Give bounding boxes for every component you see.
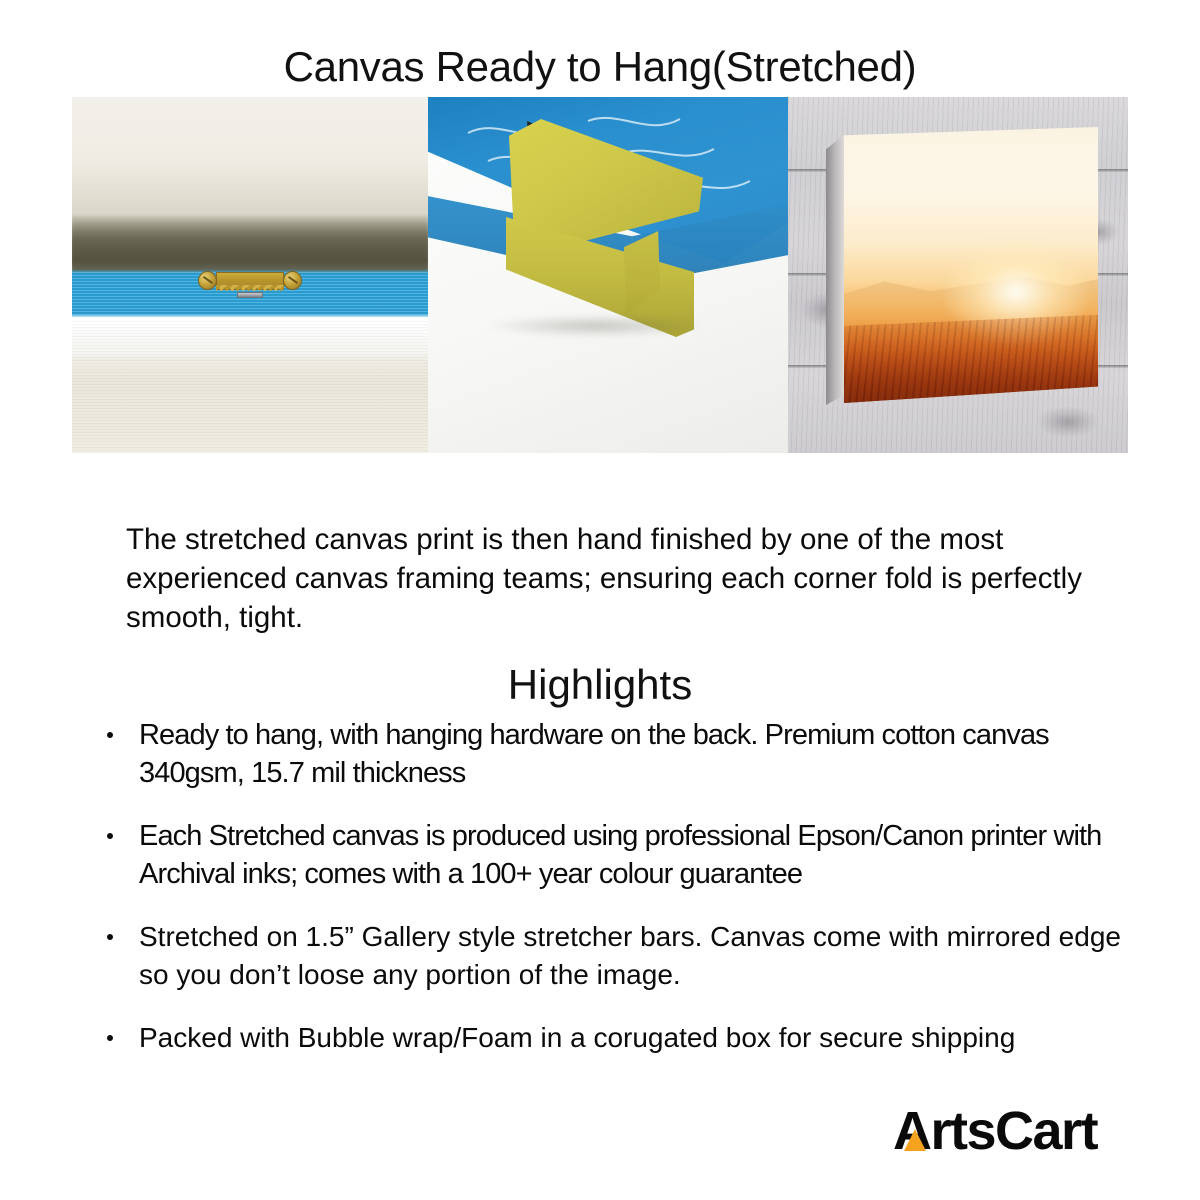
artscart-logo: ArtsCart xyxy=(893,1102,1097,1160)
bullet-dot-icon xyxy=(107,1035,113,1041)
hanger-nail xyxy=(237,292,263,298)
hanger-screw-left xyxy=(198,271,217,290)
canvas-hung-on-wall-photo xyxy=(788,97,1128,453)
bullet-dot-icon xyxy=(107,732,113,738)
sunset-landscape-print xyxy=(844,127,1098,403)
list-item-text: Each Stretched canvas is produced using … xyxy=(139,820,1101,890)
canvas-product-infographic: { "title": "Canvas Ready to Hang(Stretch… xyxy=(0,0,1200,1200)
logo-triangle-icon xyxy=(904,1129,926,1151)
list-item: Packed with Bubble wrap/Foam in a coruga… xyxy=(103,1019,1123,1057)
list-item-text: Stretched on 1.5” Gallery style stretche… xyxy=(139,921,1121,990)
list-item: Stretched on 1.5” Gallery style stretche… xyxy=(103,918,1123,994)
list-item: Each Stretched canvas is produced using … xyxy=(103,817,1123,893)
canvas-back-hanger-photo xyxy=(72,97,428,453)
canvas-back-shadow xyxy=(72,214,428,271)
canvas-corner-fold-photo xyxy=(428,97,788,453)
hanger-teeth xyxy=(216,285,284,292)
highlights-heading: Highlights xyxy=(0,661,1200,709)
sawtooth-hanger-icon xyxy=(198,270,302,293)
page-title: Canvas Ready to Hang(Stretched) xyxy=(0,44,1200,90)
list-item: Ready to hang, with hanging hardware on … xyxy=(103,716,1123,792)
highlights-list: Ready to hang, with hanging hardware on … xyxy=(103,716,1123,1082)
product-image-strip xyxy=(72,97,1128,453)
hanger-screw-right xyxy=(283,271,302,290)
bullet-dot-icon xyxy=(107,833,113,839)
hung-canvas-artwork xyxy=(826,127,1098,403)
list-item-text: Packed with Bubble wrap/Foam in a coruga… xyxy=(139,1022,1015,1053)
corner-drop-shadow xyxy=(488,315,703,337)
intro-paragraph: The stretched canvas print is then hand … xyxy=(126,520,1086,637)
canvas-side-edge xyxy=(826,133,846,405)
canvas-weave-texture xyxy=(72,321,428,453)
wood-knot xyxy=(1038,407,1098,437)
bullet-dot-icon xyxy=(107,934,113,940)
list-item-text: Ready to hang, with hanging hardware on … xyxy=(139,719,1049,789)
logo-wordmark: ArtsCart xyxy=(893,1104,1097,1158)
